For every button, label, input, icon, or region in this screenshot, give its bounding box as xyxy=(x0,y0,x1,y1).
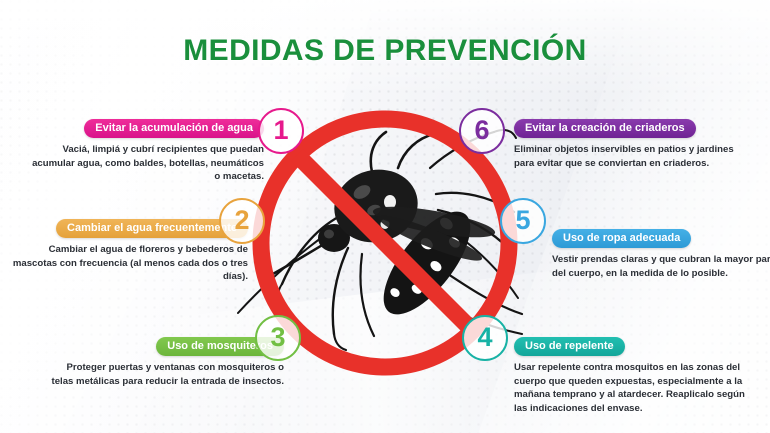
tip-5-heading: Uso de ropa adecuada xyxy=(552,229,691,248)
tip-5-body: Vestir prendas claras y que cubran la ma… xyxy=(552,253,770,280)
tip-block-5: Uso de ropa adecuada Vestir prendas clar… xyxy=(552,228,770,280)
step-number-5-label: 5 xyxy=(515,207,530,234)
page-title: MEDIDAS DE PREVENCIÓN xyxy=(0,34,770,68)
tip-2-body: Cambiar el agua de floreros y bebederos … xyxy=(12,243,248,284)
tip-1-body: Vaciá, limpiá y cubrí recipientes que pu… xyxy=(28,143,264,184)
tip-1-heading: Evitar la acumulación de agua xyxy=(84,119,264,138)
tip-4-heading: Uso de repelente xyxy=(514,337,625,356)
step-number-6: 6 xyxy=(459,108,505,154)
step-number-5: 5 xyxy=(500,198,546,244)
tip-4-body: Usar repelente contra mosquitos en las z… xyxy=(514,361,750,415)
step-number-3-label: 3 xyxy=(270,324,285,351)
tip-block-1: Evitar la acumulación de agua Vaciá, lim… xyxy=(28,118,264,184)
prevention-measures-poster: MEDIDAS DE PREVENCIÓN xyxy=(0,0,770,433)
step-number-4: 4 xyxy=(462,315,508,361)
tip-3-body: Proteger puertas y ventanas con mosquite… xyxy=(48,361,284,388)
step-number-3: 3 xyxy=(255,315,301,361)
tip-block-4: Uso de repelente Usar repelente contra m… xyxy=(514,336,750,416)
tip-block-6: Evitar la creación de criaderos Eliminar… xyxy=(514,118,750,170)
step-number-2: 2 xyxy=(219,198,265,244)
tip-6-body: Eliminar objetos inservibles en patios y… xyxy=(514,143,750,170)
step-number-4-label: 4 xyxy=(477,324,492,351)
step-number-1: 1 xyxy=(258,108,304,154)
tip-block-2: Cambiar el agua frecuentemente Cambiar e… xyxy=(12,218,248,284)
tip-6-heading: Evitar la creación de criaderos xyxy=(514,119,696,138)
step-number-1-label: 1 xyxy=(273,117,288,144)
tip-block-3: Uso de mosquiteros Proteger puertas y ve… xyxy=(48,336,284,388)
step-number-6-label: 6 xyxy=(474,117,489,144)
step-number-2-label: 2 xyxy=(234,207,249,234)
